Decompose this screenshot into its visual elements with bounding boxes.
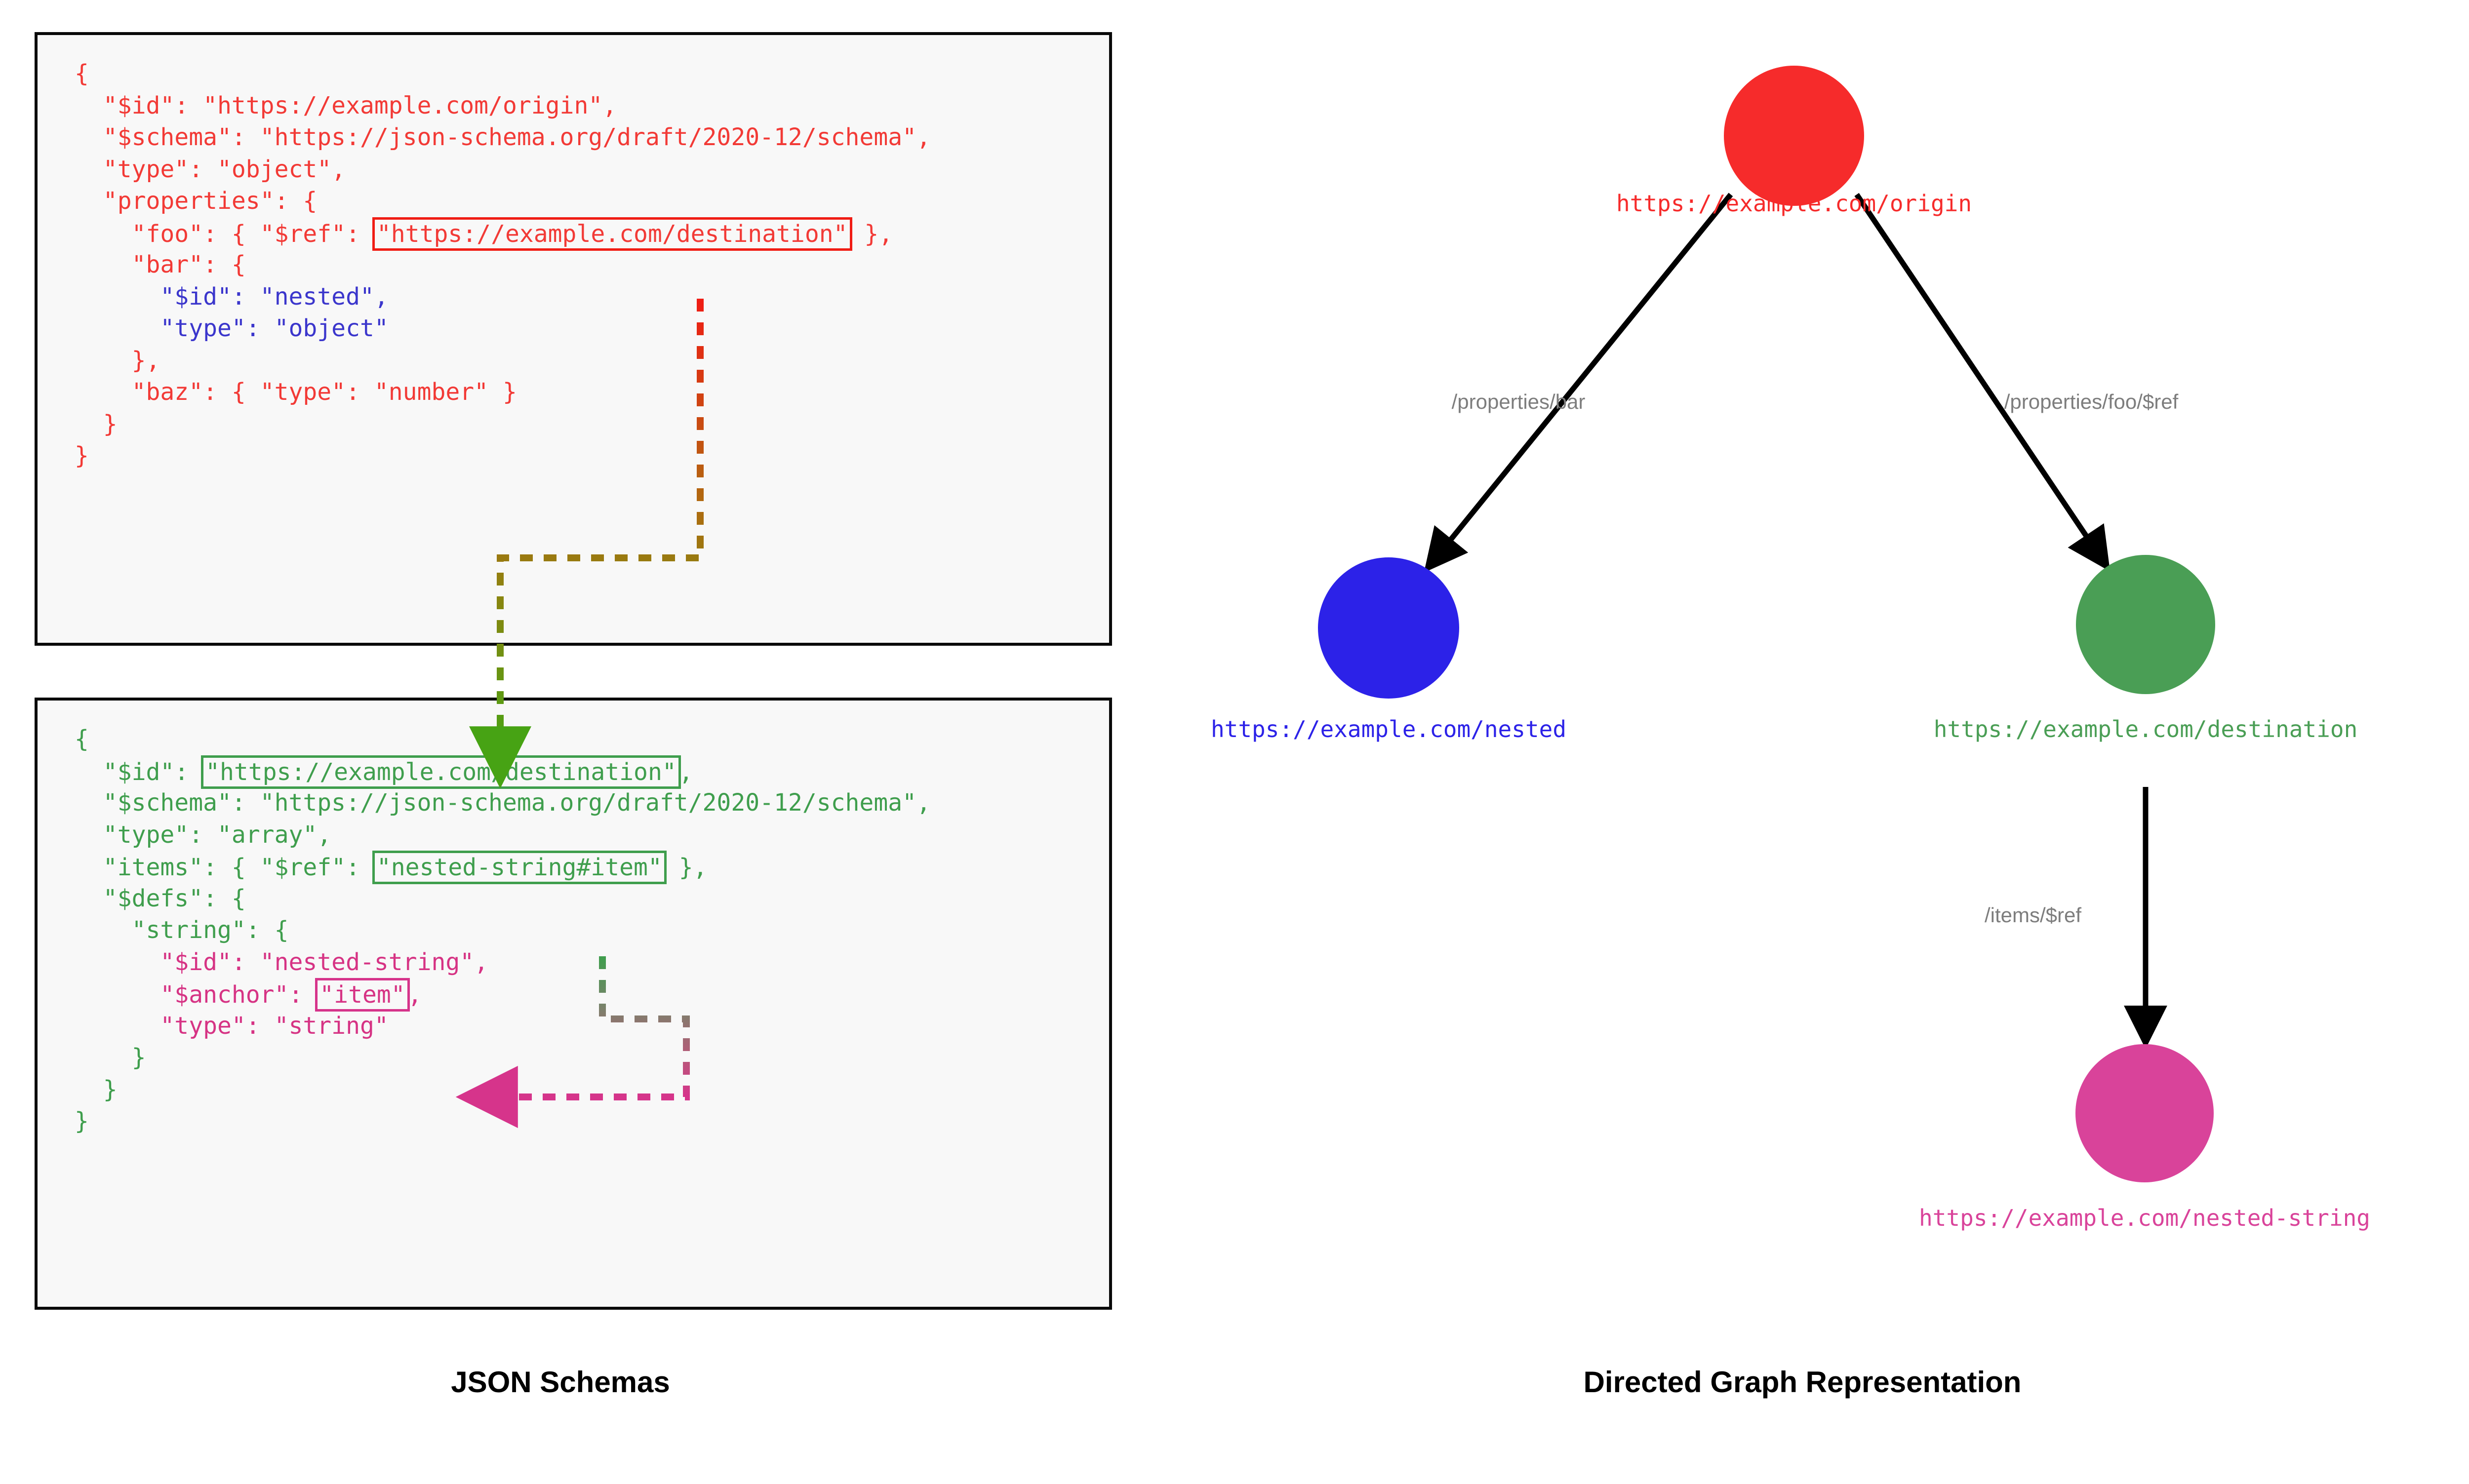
code-token: } bbox=[75, 410, 118, 438]
code-token: "$id": bbox=[75, 758, 203, 786]
code-line: "$id": "nested", bbox=[75, 281, 931, 313]
code-token: "$id": "https://example.com/origin", bbox=[75, 92, 617, 119]
code-line: } bbox=[75, 408, 931, 440]
code-line: "type": "object" bbox=[75, 312, 931, 345]
code-line: "items": { "$ref": "nested-string#item" … bbox=[75, 851, 931, 883]
schema-code-box-destination: { "$id": "https://example.com/destinatio… bbox=[35, 698, 1112, 1310]
graph-node-destination[interactable] bbox=[2076, 555, 2215, 694]
code-line: "$id": "https://example.com/origin", bbox=[75, 90, 931, 122]
code-token: "baz": { "type": "number" } bbox=[75, 378, 517, 406]
caption-json-schemas: JSON Schemas bbox=[451, 1365, 670, 1399]
code-token: "string": { bbox=[75, 916, 288, 944]
graph-edge-origin-destination bbox=[1857, 195, 2102, 559]
code-token: "$id": "nested-string", bbox=[75, 948, 488, 976]
code-line: "$schema": "https://json-schema.org/draf… bbox=[75, 121, 931, 154]
code-line: "$schema": "https://json-schema.org/draf… bbox=[75, 787, 931, 819]
code-token: { bbox=[75, 60, 89, 87]
code-line: }, bbox=[75, 345, 931, 377]
code-token: } bbox=[75, 1044, 146, 1071]
code-token: , bbox=[408, 981, 422, 1009]
code-token: "properties": { bbox=[75, 187, 317, 215]
schema-code-box-origin: { "$id": "https://example.com/origin", "… bbox=[35, 32, 1112, 646]
code-line: } bbox=[75, 1042, 931, 1074]
code-token: } bbox=[75, 1076, 118, 1103]
code-highlight-token: "nested-string#item" bbox=[372, 851, 667, 884]
code-line: "foo": { "$ref": "https://example.com/de… bbox=[75, 217, 931, 249]
code-token: "bar": { bbox=[75, 251, 246, 278]
code-line: "$id": "nested-string", bbox=[75, 946, 931, 978]
code-token: , bbox=[679, 758, 693, 786]
graph-edge-label-properties-bar: /properties/bar bbox=[1452, 390, 1586, 414]
code-line: { bbox=[75, 723, 931, 755]
graph-node-label-destination: https://example.com/destination bbox=[1934, 716, 2358, 742]
code-token: "type": "array", bbox=[75, 821, 331, 849]
code-line: "properties": { bbox=[75, 185, 931, 217]
schema-code-destination: { "$id": "https://example.com/destinatio… bbox=[75, 723, 931, 1137]
code-line: "$id": "https://example.com/destination"… bbox=[75, 755, 931, 787]
code-token: "$schema": "https://json-schema.org/draf… bbox=[75, 123, 931, 151]
code-line: "$anchor": "item", bbox=[75, 978, 931, 1010]
code-token: "$defs": { bbox=[75, 885, 246, 912]
code-token: "items": { "$ref": bbox=[75, 854, 374, 881]
code-token: } bbox=[75, 1107, 89, 1135]
code-token: }, bbox=[665, 854, 708, 881]
schema-code-origin: { "$id": "https://example.com/origin", "… bbox=[75, 58, 931, 472]
code-token: "type": "object", bbox=[75, 156, 346, 183]
code-line: "string": { bbox=[75, 914, 931, 946]
graph-node-origin[interactable] bbox=[1724, 66, 1864, 206]
graph-node-label-nested-string: https://example.com/nested-string bbox=[1919, 1205, 2370, 1231]
graph-edge-origin-nested bbox=[1434, 195, 1731, 561]
code-line: { bbox=[75, 58, 931, 90]
code-line: } bbox=[75, 440, 931, 472]
code-token: }, bbox=[75, 347, 160, 374]
code-line: "$defs": { bbox=[75, 883, 931, 915]
graph-node-nested-string[interactable] bbox=[2075, 1044, 2214, 1182]
caption-directed-graph: Directed Graph Representation bbox=[1584, 1365, 2022, 1399]
code-line: "type": "object", bbox=[75, 154, 931, 186]
code-highlight-token: "https://example.com/destination" bbox=[372, 217, 852, 251]
code-highlight-token: "item" bbox=[315, 978, 409, 1012]
code-token: "$id": "nested", bbox=[75, 283, 389, 311]
code-line: } bbox=[75, 1105, 931, 1137]
code-highlight-token: "https://example.com/destination" bbox=[201, 755, 681, 789]
code-token: "$schema": "https://json-schema.org/draf… bbox=[75, 789, 931, 817]
code-token: }, bbox=[850, 220, 893, 248]
graph-edge-label-items-ref: /items/$ref bbox=[1985, 903, 2081, 927]
graph-node-nested[interactable] bbox=[1318, 557, 1459, 699]
code-line: } bbox=[75, 1074, 931, 1106]
code-token: "type": "object" bbox=[75, 314, 389, 342]
code-token: { bbox=[75, 725, 89, 753]
code-line: "type": "string" bbox=[75, 1010, 931, 1042]
code-line: "bar": { bbox=[75, 249, 931, 281]
code-token: "$anchor": bbox=[75, 981, 317, 1009]
code-token: } bbox=[75, 442, 89, 469]
code-line: "type": "array", bbox=[75, 819, 931, 851]
code-token: "type": "string" bbox=[75, 1012, 389, 1040]
code-line: "baz": { "type": "number" } bbox=[75, 376, 931, 408]
graph-node-label-origin: https://example.com/origin bbox=[1616, 190, 1972, 217]
graph-node-label-nested: https://example.com/nested bbox=[1211, 716, 1566, 742]
code-token: "foo": { "$ref": bbox=[75, 220, 374, 248]
graph-edge-label-properties-foo-ref: /properties/foo/$ref bbox=[2004, 390, 2179, 414]
